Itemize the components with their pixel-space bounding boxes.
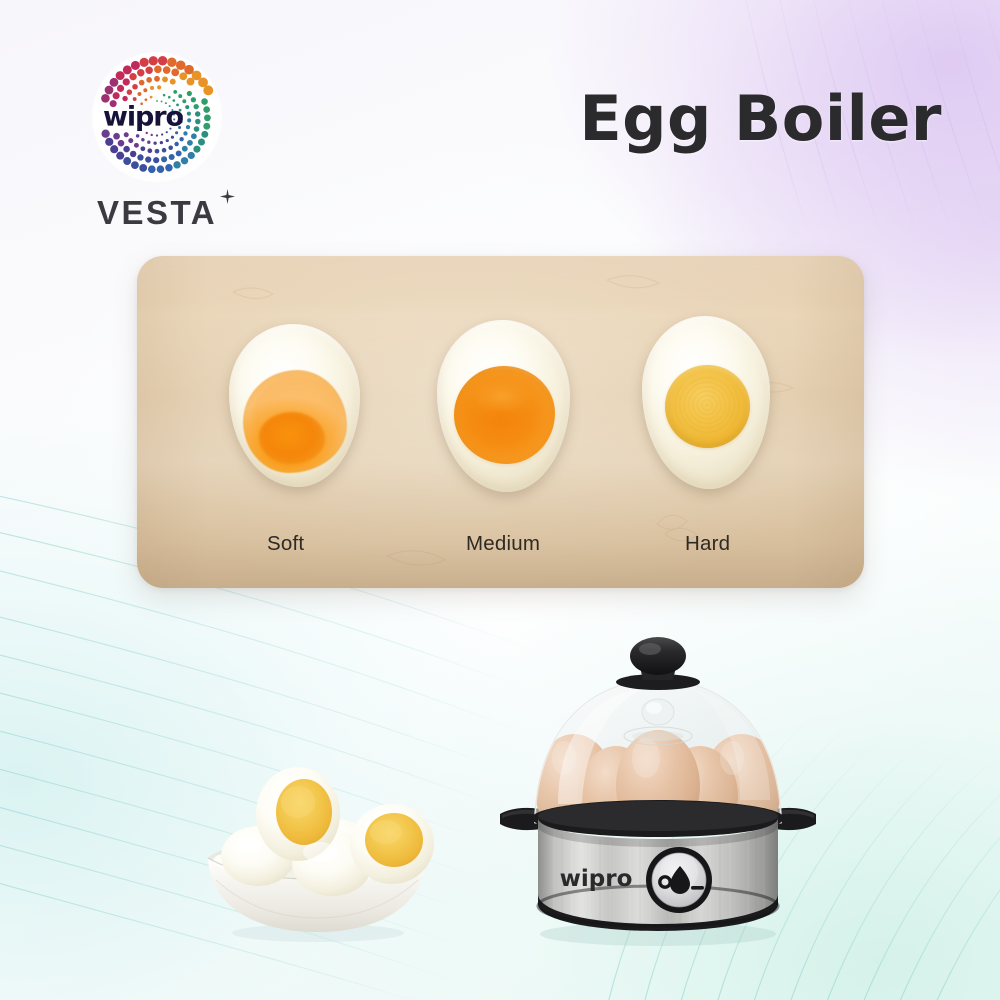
vesta-logo: VESTA [57, 196, 257, 236]
egg-sample-medium [437, 320, 570, 492]
page-title: Egg Boiler [579, 88, 942, 150]
cutting-board: Soft Medium Hard [137, 256, 864, 588]
egg-yolk-jammy-texture [467, 378, 539, 424]
egg-label-medium: Medium [466, 532, 540, 556]
boiled-egg-half [350, 804, 434, 884]
steam-vent [642, 699, 674, 725]
bowl-illustration [186, 752, 448, 942]
power-button [646, 847, 712, 913]
egg-label-hard: Hard [685, 532, 730, 556]
egg-yolk-firm-crumb [673, 376, 741, 434]
egg-sample-soft [229, 324, 360, 487]
appliance-brand-mark: wipro [560, 866, 633, 892]
vesta-wordmark: VESTA [97, 196, 217, 229]
bowl-of-boiled-eggs [186, 752, 448, 942]
egg-boiler-appliance: wipro [488, 618, 828, 948]
brand-logo-group: wipro VESTA [57, 52, 257, 236]
wipro-logo: wipro [92, 52, 222, 182]
wipro-wordmark: wipro [103, 104, 183, 131]
egg-sample-hard [642, 316, 770, 489]
sparkle-icon [220, 189, 235, 204]
egg-label-soft: Soft [267, 532, 304, 556]
lid-knob [616, 637, 700, 690]
product-marketing-image: wipro VESTA Egg Boiler [0, 0, 1000, 1000]
egg-yolk-runny-core [259, 412, 325, 464]
